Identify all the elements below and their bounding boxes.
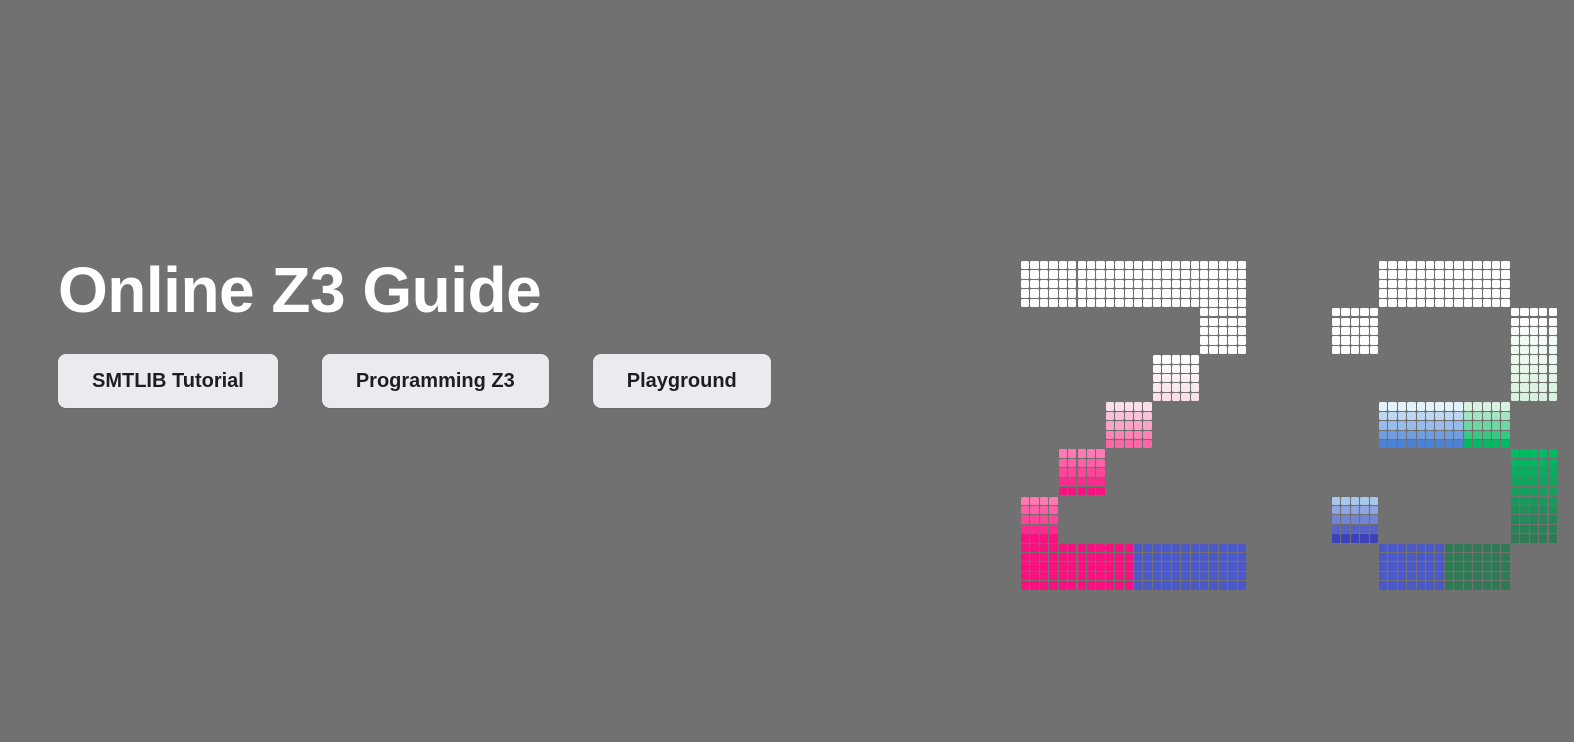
logo-pixel: [1435, 270, 1443, 278]
logo-pixel: [1143, 544, 1151, 552]
logo-pixel: [1445, 412, 1453, 420]
logo-pixel: [1087, 581, 1095, 589]
logo-pixel: [1162, 553, 1170, 561]
logo-pixel: [1200, 280, 1208, 288]
logo-pixel: [1030, 534, 1038, 542]
logo-pixel: [1068, 562, 1076, 570]
logo-pixel: [1209, 572, 1217, 580]
logo-pixel: [1407, 581, 1415, 589]
logo-pixel: [1426, 299, 1434, 307]
logo-pixel: [1379, 431, 1387, 439]
logo-pixel: [1388, 440, 1396, 448]
logo-pixel: [1520, 478, 1528, 486]
logo-pixel: [1464, 421, 1472, 429]
logo-pixel: [1228, 572, 1236, 580]
logo-pixel: [1059, 544, 1067, 552]
logo-pixel: [1492, 553, 1500, 561]
logo-pixel: [1078, 270, 1086, 278]
logo-pixel: [1115, 412, 1123, 420]
logo-pixel: [1445, 280, 1453, 288]
logo-pixel: [1068, 449, 1076, 457]
logo-pixel: [1492, 261, 1500, 269]
logo-pixel: [1370, 336, 1378, 344]
logo-pixel: [1125, 299, 1133, 307]
logo-pixel: [1454, 572, 1462, 580]
logo-pixel: [1143, 440, 1151, 448]
logo-pixel: [1360, 308, 1368, 316]
logo-pixel: [1181, 572, 1189, 580]
logo-pixel: [1125, 431, 1133, 439]
logo-pixel: [1162, 562, 1170, 570]
logo-pixel: [1172, 544, 1180, 552]
logo-pixel: [1454, 581, 1462, 589]
logo-pixel: [1040, 497, 1048, 505]
logo-pixel: [1379, 402, 1387, 410]
logo-pixel: [1520, 449, 1528, 457]
logo-pixel: [1426, 562, 1434, 570]
logo-pixel: [1539, 355, 1547, 363]
logo-pixel: [1078, 553, 1086, 561]
logo-pixel: [1379, 270, 1387, 278]
logo-pixel: [1483, 553, 1491, 561]
logo-pixel: [1407, 572, 1415, 580]
logo-pixel: [1388, 261, 1396, 269]
logo-pixel: [1030, 270, 1038, 278]
logo-pixel: [1445, 299, 1453, 307]
logo-pixel: [1454, 299, 1462, 307]
logo-pixel: [1143, 431, 1151, 439]
logo-pixel: [1106, 431, 1114, 439]
logo-pixel: [1162, 289, 1170, 297]
logo-pixel: [1068, 553, 1076, 561]
logo-pixel: [1030, 289, 1038, 297]
logo-pixel: [1332, 318, 1340, 326]
logo-pixel: [1087, 270, 1095, 278]
logo-pixel: [1134, 289, 1142, 297]
logo-pixel: [1454, 289, 1462, 297]
logo-pixel: [1096, 449, 1104, 457]
logo-pixel: [1492, 562, 1500, 570]
logo-pixel: [1200, 318, 1208, 326]
logo-pixel: [1068, 270, 1076, 278]
logo-pixel: [1473, 431, 1481, 439]
logo-pixel: [1511, 346, 1519, 354]
logo-pixel: [1473, 581, 1481, 589]
logo-pixel: [1530, 515, 1538, 523]
logo-pixel: [1181, 393, 1189, 401]
logo-pixel: [1520, 487, 1528, 495]
logo-pixel: [1049, 289, 1057, 297]
logo-pixel: [1501, 572, 1509, 580]
logo-pixel: [1021, 270, 1029, 278]
logo-pixel: [1332, 497, 1340, 505]
logo-pixel: [1040, 534, 1048, 542]
logo-pixel: [1049, 525, 1057, 533]
logo-pixel: [1435, 581, 1443, 589]
logo-pixel: [1059, 468, 1067, 476]
logo-pixel: [1398, 562, 1406, 570]
logo-pixel: [1219, 581, 1227, 589]
logo-pixel: [1096, 553, 1104, 561]
logo-pixel: [1511, 336, 1519, 344]
logo-pixel: [1360, 506, 1368, 514]
logo-pixel: [1040, 261, 1048, 269]
hero-text-column: Online Z3 Guide SMTLIB Tutorial Programm…: [58, 258, 958, 408]
hero-section: Online Z3 Guide SMTLIB Tutorial Programm…: [0, 0, 1574, 742]
logo-pixel: [1530, 355, 1538, 363]
logo-pixel: [1549, 374, 1557, 382]
logo-pixel: [1426, 440, 1434, 448]
logo-pixel: [1473, 280, 1481, 288]
logo-pixel: [1059, 459, 1067, 467]
logo-pixel: [1125, 280, 1133, 288]
logo-pixel: [1332, 336, 1340, 344]
logo-pixel: [1096, 562, 1104, 570]
logo-pixel: [1115, 544, 1123, 552]
logo-pixel: [1417, 299, 1425, 307]
logo-pixel: [1106, 299, 1114, 307]
logo-pixel: [1370, 308, 1378, 316]
logo-pixel: [1511, 478, 1519, 486]
logo-pixel: [1483, 440, 1491, 448]
logo-pixel: [1238, 327, 1246, 335]
logo-pixel: [1370, 506, 1378, 514]
logo-pixel: [1106, 402, 1114, 410]
logo-pixel: [1059, 553, 1067, 561]
logo-pixel: [1228, 336, 1236, 344]
logo-pixel: [1464, 402, 1472, 410]
logo-pixel: [1501, 402, 1509, 410]
logo-pixel: [1379, 562, 1387, 570]
logo-pixel: [1219, 562, 1227, 570]
logo-pixel: [1049, 544, 1057, 552]
logo-pixel: [1115, 280, 1123, 288]
logo-pixel: [1030, 581, 1038, 589]
logo-pixel: [1351, 308, 1359, 316]
logo-pixel: [1492, 289, 1500, 297]
logo-pixel: [1162, 270, 1170, 278]
logo-pixel: [1219, 280, 1227, 288]
logo-pixel: [1539, 327, 1547, 335]
logo-pixel: [1068, 544, 1076, 552]
logo-pixel: [1238, 544, 1246, 552]
logo-pixel: [1398, 261, 1406, 269]
logo-pixel: [1181, 553, 1189, 561]
logo-pixel: [1530, 327, 1538, 335]
logo-pixel: [1106, 581, 1114, 589]
logo-pixel: [1426, 553, 1434, 561]
logo-pixel: [1078, 487, 1086, 495]
logo-pixel: [1530, 459, 1538, 467]
logo-pixel: [1238, 299, 1246, 307]
logo-pixel: [1492, 581, 1500, 589]
logo-pixel: [1153, 289, 1161, 297]
logo-pixel: [1200, 270, 1208, 278]
logo-pixel: [1501, 440, 1509, 448]
logo-pixel: [1407, 289, 1415, 297]
logo-pixel: [1511, 393, 1519, 401]
logo-pixel: [1407, 431, 1415, 439]
logo-pixel: [1530, 336, 1538, 344]
logo-pixel: [1219, 308, 1227, 316]
logo-pixel: [1125, 412, 1133, 420]
logo-pixel: [1040, 525, 1048, 533]
logo-pixel: [1096, 478, 1104, 486]
logo-pixel: [1341, 346, 1349, 354]
logo-pixel: [1040, 506, 1048, 514]
logo-pixel: [1511, 318, 1519, 326]
logo-pixel: [1059, 280, 1067, 288]
logo-pixel: [1143, 299, 1151, 307]
logo-pixel: [1398, 431, 1406, 439]
logo-pixel: [1407, 544, 1415, 552]
logo-pixel: [1115, 270, 1123, 278]
logo-pixel: [1417, 553, 1425, 561]
logo-pixel: [1388, 299, 1396, 307]
logo-pixel: [1059, 478, 1067, 486]
logo-pixel: [1087, 553, 1095, 561]
logo-pixel: [1172, 374, 1180, 382]
logo-pixel: [1228, 327, 1236, 335]
logo-pixel: [1200, 299, 1208, 307]
logo-pixel: [1417, 431, 1425, 439]
logo-pixel: [1388, 421, 1396, 429]
logo-pixel: [1341, 318, 1349, 326]
logo-pixel: [1125, 270, 1133, 278]
logo-pixel: [1153, 299, 1161, 307]
logo-pixel: [1520, 346, 1528, 354]
logo-pixel: [1501, 544, 1509, 552]
logo-pixel: [1530, 525, 1538, 533]
logo-pixel: [1219, 336, 1227, 344]
logo-pixel: [1134, 581, 1142, 589]
logo-pixel: [1059, 449, 1067, 457]
logo-pixel: [1492, 299, 1500, 307]
logo-pixel: [1530, 497, 1538, 505]
logo-pixel: [1483, 289, 1491, 297]
logo-pixel: [1454, 412, 1462, 420]
logo-pixel: [1341, 308, 1349, 316]
logo-pixel: [1351, 497, 1359, 505]
logo-pixel: [1379, 261, 1387, 269]
logo-pixel: [1549, 515, 1557, 523]
logo-pixel: [1191, 581, 1199, 589]
logo-pixel: [1134, 299, 1142, 307]
logo-pixel: [1549, 365, 1557, 373]
logo-pixel: [1087, 478, 1095, 486]
logo-pixel: [1351, 346, 1359, 354]
logo-pixel: [1049, 515, 1057, 523]
logo-pixel: [1464, 412, 1472, 420]
logo-pixel: [1530, 374, 1538, 382]
logo-pixel: [1464, 280, 1472, 288]
logo-pixel: [1134, 431, 1142, 439]
logo-pixel: [1454, 440, 1462, 448]
smtlib-tutorial-button[interactable]: SMTLIB Tutorial: [58, 354, 278, 408]
logo-pixel: [1162, 572, 1170, 580]
logo-pixel: [1464, 289, 1472, 297]
logo-pixel: [1398, 270, 1406, 278]
logo-pixel: [1040, 581, 1048, 589]
logo-pixel: [1191, 289, 1199, 297]
logo-pixel: [1473, 412, 1481, 420]
logo-pixel: [1464, 562, 1472, 570]
logo-pixel: [1040, 289, 1048, 297]
logo-pixel: [1087, 459, 1095, 467]
logo-pixel: [1191, 544, 1199, 552]
logo-pixel: [1049, 261, 1057, 269]
logo-pixel: [1435, 289, 1443, 297]
logo-pixel: [1021, 572, 1029, 580]
logo-pixel: [1153, 374, 1161, 382]
logo-pixel: [1021, 525, 1029, 533]
logo-pixel: [1539, 525, 1547, 533]
logo-pixel: [1520, 468, 1528, 476]
logo-pixel: [1539, 506, 1547, 514]
logo-pixel: [1209, 318, 1217, 326]
logo-pixel: [1511, 459, 1519, 467]
logo-pixel: [1106, 562, 1114, 570]
logo-pixel: [1106, 270, 1114, 278]
logo-pixel: [1096, 572, 1104, 580]
logo-pixel: [1162, 261, 1170, 269]
logo-pixel: [1078, 299, 1086, 307]
logo-pixel: [1115, 572, 1123, 580]
logo-pixel: [1388, 562, 1396, 570]
logo-pixel: [1219, 299, 1227, 307]
logo-pixel: [1021, 506, 1029, 514]
logo-pixel: [1143, 412, 1151, 420]
logo-pixel: [1520, 383, 1528, 391]
logo-pixel: [1332, 515, 1340, 523]
logo-pixel: [1435, 299, 1443, 307]
logo-pixel: [1417, 261, 1425, 269]
logo-pixel: [1209, 327, 1217, 335]
logo-pixel: [1370, 318, 1378, 326]
logo-pixel: [1191, 562, 1199, 570]
playground-button[interactable]: Playground: [593, 354, 771, 408]
logo-pixel: [1096, 261, 1104, 269]
logo-pixel: [1181, 289, 1189, 297]
logo-pixel: [1068, 478, 1076, 486]
logo-pixel: [1238, 553, 1246, 561]
logo-pixel: [1511, 383, 1519, 391]
logo-pixel: [1134, 412, 1142, 420]
logo-pixel: [1172, 365, 1180, 373]
logo-pixel: [1511, 374, 1519, 382]
programming-z3-button[interactable]: Programming Z3: [322, 354, 549, 408]
logo-pixel: [1153, 544, 1161, 552]
logo-pixel: [1238, 318, 1246, 326]
logo-pixel: [1417, 280, 1425, 288]
logo-pixel: [1332, 525, 1340, 533]
logo-pixel: [1454, 562, 1462, 570]
logo-pixel: [1501, 581, 1509, 589]
logo-pixel: [1228, 299, 1236, 307]
logo-pixel: [1426, 261, 1434, 269]
logo-pixel: [1228, 289, 1236, 297]
logo-pixel: [1049, 572, 1057, 580]
logo-pixel: [1501, 299, 1509, 307]
logo-pixel: [1059, 572, 1067, 580]
logo-pixel: [1501, 431, 1509, 439]
logo-pixel: [1049, 534, 1057, 542]
logo-pixel: [1106, 289, 1114, 297]
logo-pixel: [1049, 581, 1057, 589]
logo-pixel: [1388, 572, 1396, 580]
logo-pixel: [1549, 308, 1557, 316]
logo-pixel: [1445, 431, 1453, 439]
logo-pixel: [1539, 487, 1547, 495]
logo-pixel: [1153, 365, 1161, 373]
logo-pixel: [1379, 299, 1387, 307]
logo-pixel: [1068, 289, 1076, 297]
logo-pixel: [1228, 308, 1236, 316]
logo-pixel: [1181, 299, 1189, 307]
logo-pixel: [1068, 459, 1076, 467]
logo-pixel: [1351, 534, 1359, 542]
logo-pixel: [1115, 289, 1123, 297]
logo-pixel: [1134, 553, 1142, 561]
logo-pixel: [1040, 572, 1048, 580]
logo-pixel: [1549, 525, 1557, 533]
logo-pixel: [1435, 431, 1443, 439]
logo-pixel: [1501, 553, 1509, 561]
logo-pixel: [1530, 468, 1538, 476]
logo-pixel: [1228, 553, 1236, 561]
logo-pixel: [1341, 515, 1349, 523]
logo-pixel: [1549, 318, 1557, 326]
logo-pixel: [1049, 506, 1057, 514]
logo-pixel: [1464, 553, 1472, 561]
logo-pixel: [1068, 261, 1076, 269]
logo-pixel: [1134, 270, 1142, 278]
logo-pixel: [1483, 412, 1491, 420]
logo-pixel: [1181, 383, 1189, 391]
logo-pixel: [1473, 562, 1481, 570]
logo-pixel: [1078, 572, 1086, 580]
logo-pixel: [1059, 581, 1067, 589]
logo-pixel: [1068, 280, 1076, 288]
logo-pixel: [1087, 289, 1095, 297]
logo-pixel: [1341, 327, 1349, 335]
logo-pixel: [1125, 581, 1133, 589]
logo-pixel: [1219, 346, 1227, 354]
logo-pixel: [1435, 440, 1443, 448]
logo-pixel: [1040, 553, 1048, 561]
logo-pixel: [1511, 468, 1519, 476]
logo-pixel: [1162, 374, 1170, 382]
logo-pixel: [1096, 289, 1104, 297]
logo-pixel: [1200, 261, 1208, 269]
logo-pixel: [1407, 402, 1415, 410]
logo-pixel: [1464, 544, 1472, 552]
logo-pixel: [1388, 431, 1396, 439]
logo-pixel: [1209, 553, 1217, 561]
logo-pixel: [1096, 459, 1104, 467]
logo-pixel: [1209, 299, 1217, 307]
logo-pixel: [1370, 534, 1378, 542]
logo-pixel: [1407, 270, 1415, 278]
logo-pixel: [1172, 280, 1180, 288]
logo-pixel: [1106, 572, 1114, 580]
logo-pixel: [1520, 506, 1528, 514]
logo-pixel: [1426, 412, 1434, 420]
logo-pixel: [1200, 581, 1208, 589]
logo-pixel: [1549, 478, 1557, 486]
logo-pixel: [1417, 289, 1425, 297]
logo-pixel: [1549, 459, 1557, 467]
